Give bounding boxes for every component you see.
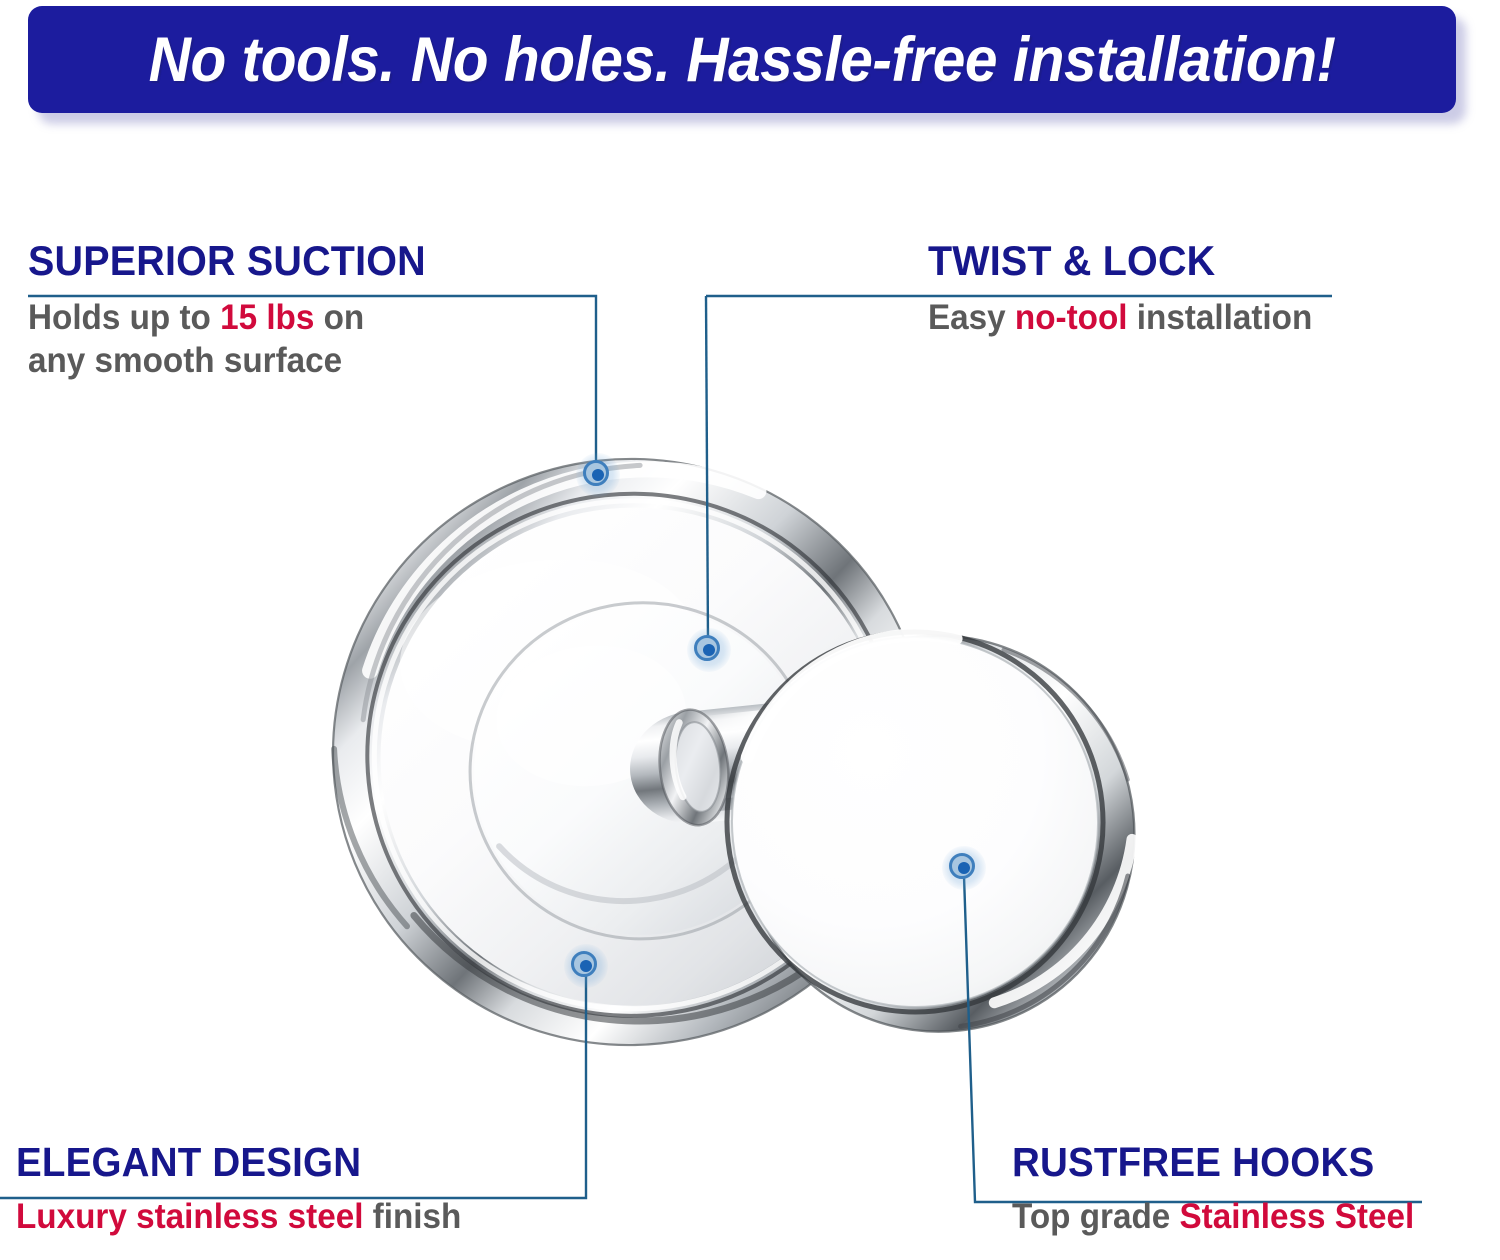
header-banner: No tools. No holes. Hassle-free installa…	[28, 6, 1456, 113]
callout-body-text: Easy	[928, 298, 1015, 337]
callout-highlight-stainless-steel: Stainless Steel	[1179, 1197, 1414, 1236]
marker-elegant-design	[564, 944, 608, 988]
callout-title-elegant-design: ELEGANT DESIGN	[16, 1142, 457, 1184]
callout-superior-suction: SUPERIOR SUCTION Holds up to 15 lbs on a…	[28, 240, 451, 382]
product-image-suction-hook	[330, 352, 1160, 1162]
callout-body-text: finish	[363, 1197, 461, 1236]
callout-twist-lock: TWIST & LOCK Easy no-tool installation	[928, 240, 1333, 340]
callout-body-line2: any smooth surface	[28, 340, 430, 383]
callout-body-elegant-design: Luxury stainless steel finish	[16, 1196, 461, 1239]
callout-body-rustfree-hooks: Top grade Stainless Steel	[1012, 1196, 1414, 1239]
callout-elegant-design: ELEGANT DESIGN Luxury stainless steel fi…	[16, 1142, 485, 1239]
marker-rustfree-hooks	[942, 846, 986, 890]
marker-twist-lock	[687, 628, 731, 672]
callout-body-text: Top grade	[1012, 1197, 1179, 1236]
callout-title-superior-suction: SUPERIOR SUCTION	[28, 240, 426, 283]
marker-core	[958, 862, 970, 874]
callout-body-text: on	[314, 298, 364, 337]
marker-core	[703, 644, 715, 656]
callout-title-twist-lock: TWIST & LOCK	[928, 240, 1308, 283]
callout-body-text: Holds up to	[28, 298, 220, 337]
marker-core	[592, 469, 604, 481]
infographic-canvas: No tools. No holes. Hassle-free installa…	[0, 0, 1500, 1260]
header-banner-text: No tools. No holes. Hassle-free installa…	[149, 24, 1336, 96]
callout-highlight-15lbs: 15 lbs	[220, 298, 314, 337]
callout-body-superior-suction: Holds up to 15 lbs on any smooth surface	[28, 297, 430, 382]
callout-body-twist-lock: Easy no-tool installation	[928, 297, 1312, 340]
marker-superior-suction	[576, 453, 620, 497]
callout-highlight-no-tool: no-tool	[1015, 298, 1128, 337]
callout-body-text: installation	[1128, 298, 1313, 337]
marker-core	[580, 960, 592, 972]
callout-highlight-luxury-stainless-steel: Luxury stainless steel	[16, 1197, 363, 1236]
callout-title-rustfree-hooks: RUSTFREE HOOKS	[1012, 1142, 1410, 1184]
callout-rustfree-hooks: RUSTFREE HOOKS Top grade Stainless Steel	[1012, 1142, 1435, 1239]
